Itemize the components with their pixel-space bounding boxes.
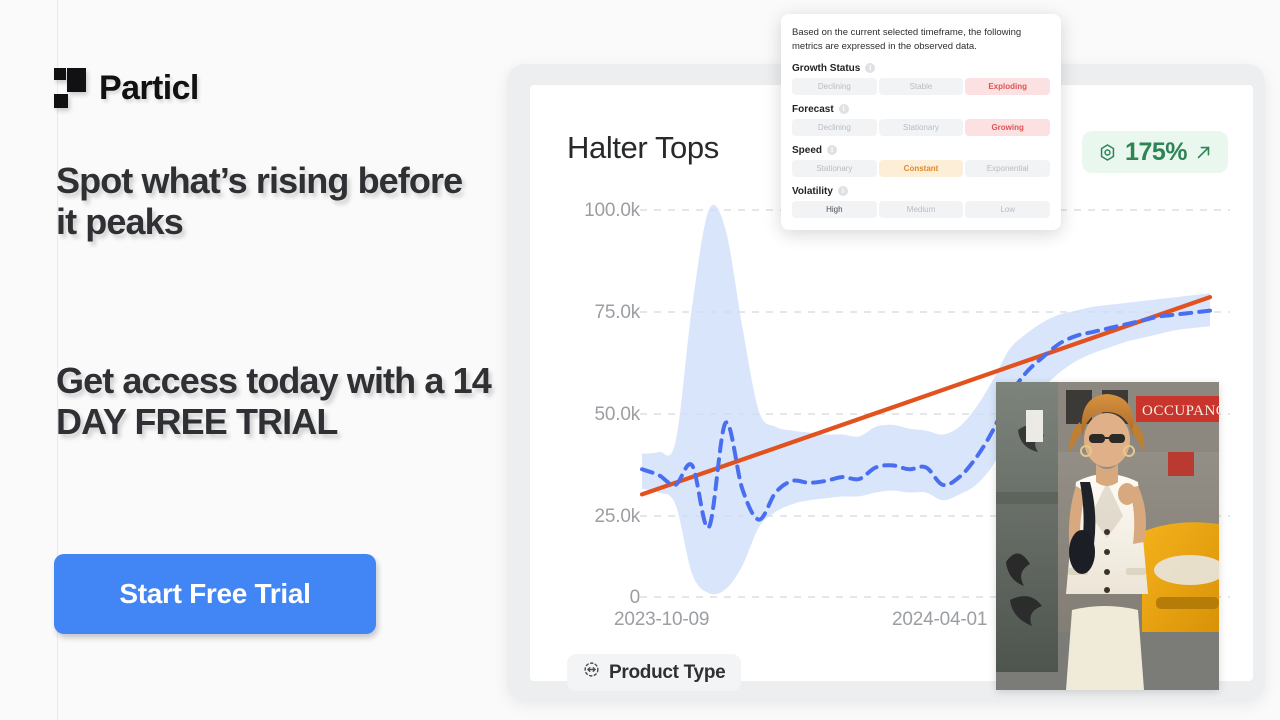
metric-group-header: Speed i (792, 145, 1050, 156)
metric-options-row: Declining Stationary Growing (792, 119, 1050, 136)
metric-group-header: Volatility i (792, 186, 1050, 197)
metric-options-row: Stationary Constant Exponential (792, 160, 1050, 177)
brand-name: Particl (99, 69, 199, 108)
metric-group-volatility: Volatility i High Medium Low (792, 186, 1050, 218)
svg-text:OCCUPANO: OCCUPANO (1142, 403, 1219, 419)
metric-options-row: High Medium Low (792, 201, 1050, 218)
metric-group-forecast: Forecast i Declining Stationary Growing (792, 104, 1050, 136)
metric-option[interactable]: Stationary (792, 160, 877, 177)
metric-option-selected[interactable]: High (792, 201, 877, 218)
metric-option-selected[interactable]: Constant (879, 160, 964, 177)
metric-group-header: Growth Status i (792, 63, 1050, 74)
metric-option[interactable]: Stationary (879, 119, 964, 136)
metric-options-row: Declining Stable Exploding (792, 78, 1050, 95)
insights-popover: Based on the current selected timeframe,… (781, 14, 1061, 230)
metric-option-selected[interactable]: Exploding (965, 78, 1050, 95)
metric-group-label: Growth Status (792, 63, 860, 74)
insights-intro-text: Based on the current selected timeframe,… (792, 26, 1050, 54)
metric-group-label: Speed (792, 145, 822, 156)
metric-option[interactable]: Exponential (965, 160, 1050, 177)
hero-subheadline: Get access today with a 14 DAY FREE TRIA… (56, 360, 496, 442)
hero-headline: Spot what’s rising before it peaks (56, 160, 486, 242)
x-tick-label: 2023-10-09 (614, 609, 709, 631)
metric-option[interactable]: Low (965, 201, 1050, 218)
metric-group-growth-status: Growth Status i Declining Stable Explodi… (792, 63, 1050, 95)
product-type-filter-button[interactable]: Product Type (567, 654, 741, 691)
metric-option[interactable]: Stable (879, 78, 964, 95)
metric-option[interactable]: Declining (792, 78, 877, 95)
brand-lockup: Particl (54, 68, 199, 108)
filter-dashed-circle-icon (583, 661, 600, 684)
metric-option-selected[interactable]: Growing (965, 119, 1050, 136)
info-icon[interactable]: i (839, 104, 849, 114)
metric-group-speed: Speed i Stationary Constant Exponential (792, 145, 1050, 177)
marketing-left-panel: Particl Spot what’s rising before it pea… (0, 0, 510, 720)
metric-group-header: Forecast i (792, 104, 1050, 115)
info-icon[interactable]: i (827, 145, 837, 155)
product-type-filter-label: Product Type (609, 662, 725, 684)
metric-group-label: Forecast (792, 104, 834, 115)
product-photo: OCCUPANO (996, 382, 1219, 690)
particl-logo-mark-icon (54, 68, 86, 108)
info-icon[interactable]: i (838, 186, 848, 196)
info-icon[interactable]: i (865, 63, 875, 73)
metric-option[interactable]: Medium (879, 201, 964, 218)
metric-option[interactable]: Declining (792, 119, 877, 136)
start-free-trial-button[interactable]: Start Free Trial (54, 554, 376, 634)
x-tick-label: 2024-04-01 (892, 609, 987, 631)
metric-group-label: Volatility (792, 186, 833, 197)
